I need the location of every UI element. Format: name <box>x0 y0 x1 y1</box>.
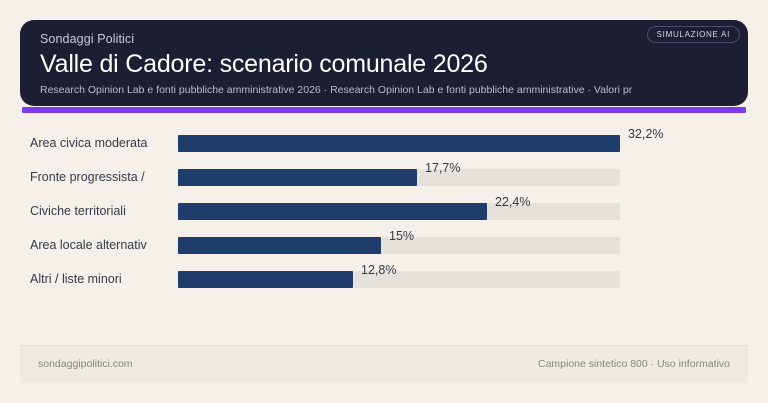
status-badge: SIMULAZIONE AI <box>647 26 740 43</box>
bar-label: Fronte progressista / <box>30 160 170 194</box>
header-subtitle: Research Opinion Lab e fonti pubbliche a… <box>40 83 732 97</box>
bar-fill <box>178 271 353 288</box>
bar-track <box>178 169 620 186</box>
bar-value: 17,7% <box>425 160 460 177</box>
bar-track <box>178 203 620 220</box>
chart-row: Fronte progressista / 17,7% <box>0 160 768 194</box>
bar-value: 15% <box>389 228 414 245</box>
header-text-block: Sondaggi Politici Valle di Cadore: scena… <box>40 31 732 97</box>
bar-fill <box>178 237 381 254</box>
bar-value: 32,2% <box>628 126 663 143</box>
footer-note: Campione sintetico 800 · Uso informativo <box>538 346 730 383</box>
bar-value: 22,4% <box>495 194 530 211</box>
bar-label: Altri / liste minori <box>30 262 170 296</box>
header-eyebrow: Sondaggi Politici <box>40 31 732 47</box>
bar-track <box>178 271 620 288</box>
chart-row: Area locale alternativ 15% <box>0 228 768 262</box>
header-card: Sondaggi Politici Valle di Cadore: scena… <box>20 20 748 106</box>
chart-row: Area civica moderata 32,2% <box>0 126 768 160</box>
bar-fill <box>178 135 620 152</box>
bar-label: Civiche territoriali <box>30 194 170 228</box>
chart-row: Altri / liste minori 12,8% <box>0 262 768 296</box>
chart-row: Civiche territoriali 22,4% <box>0 194 768 228</box>
bar-label: Area locale alternativ <box>30 228 170 262</box>
footer: sondaggipolitici.com Campione sintetico … <box>20 345 748 383</box>
bar-track <box>178 135 620 152</box>
bar-fill <box>178 203 487 220</box>
bar-label: Area civica moderata <box>30 126 170 160</box>
accent-strip <box>22 107 746 113</box>
footer-site: sondaggipolitici.com <box>38 346 133 383</box>
bar-value: 12,8% <box>361 262 396 279</box>
bar-fill <box>178 169 417 186</box>
bar-chart: Area civica moderata 32,2% Fronte progre… <box>0 126 768 296</box>
page-title: Valle di Cadore: scenario comunale 2026 <box>40 48 732 80</box>
